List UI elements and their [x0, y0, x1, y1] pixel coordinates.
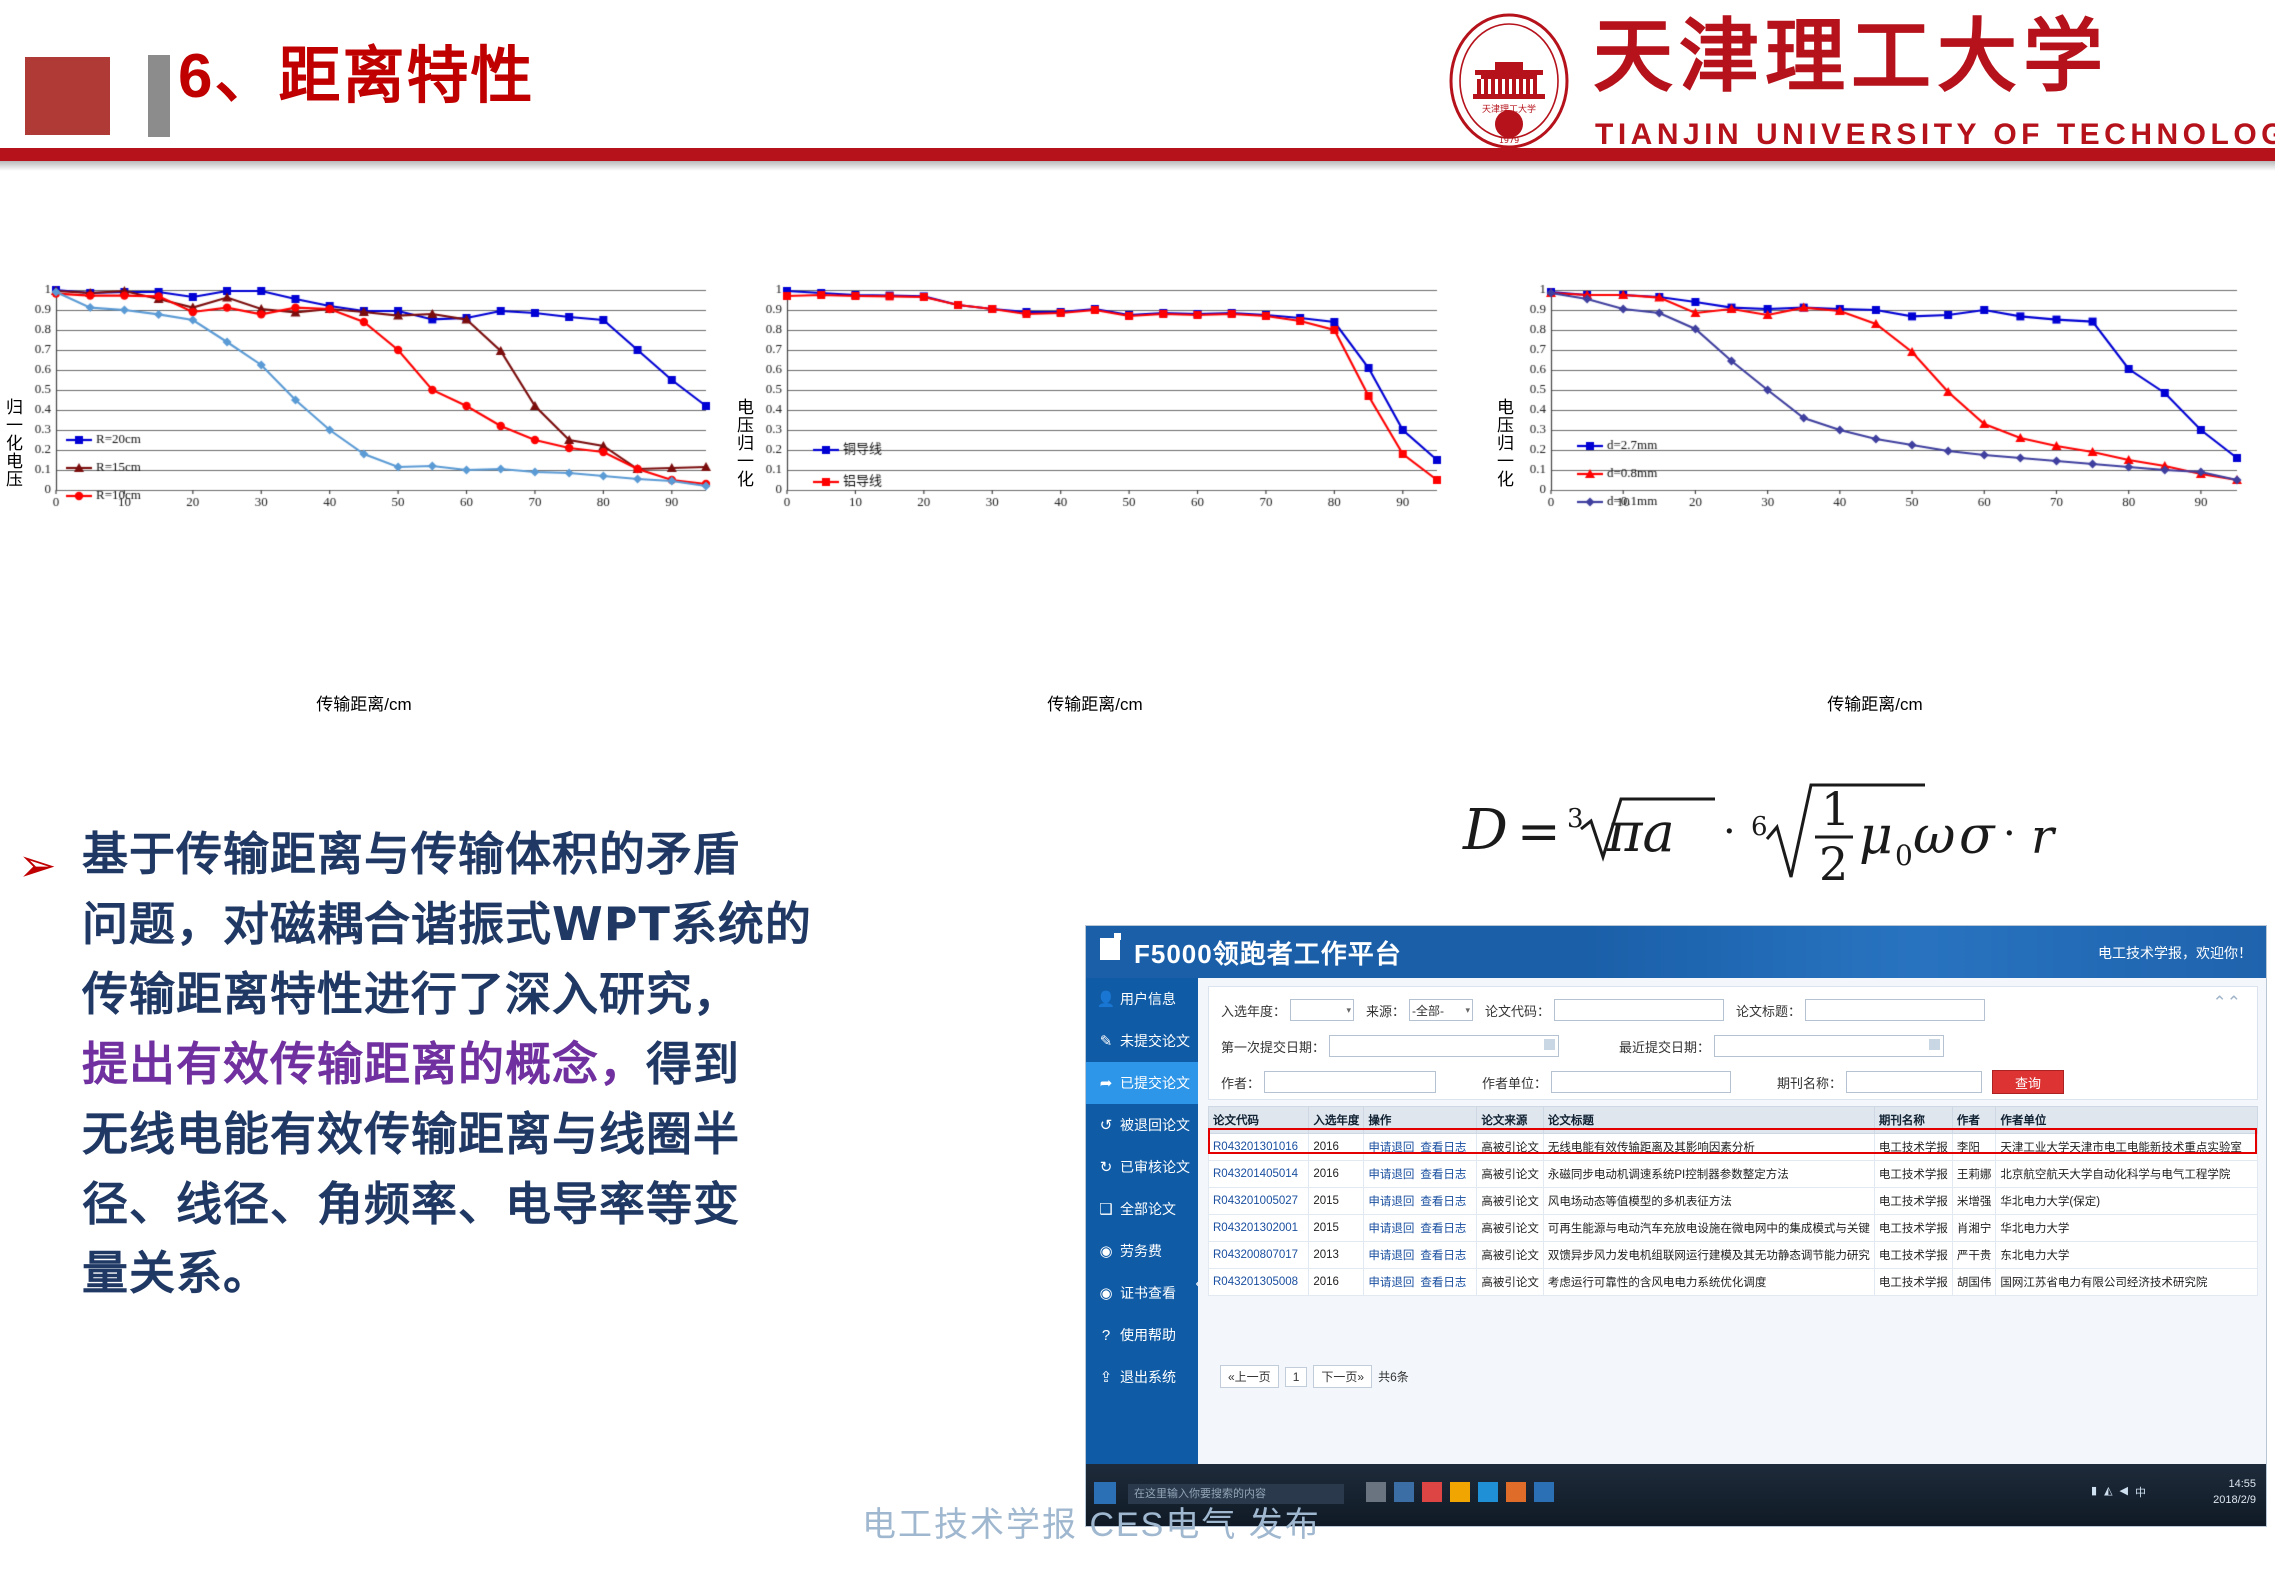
filter-journal-label: 期刊名称： — [1731, 1073, 1846, 1092]
cell-source: 高被引论文 — [1477, 1242, 1544, 1269]
svg-text:6: 6 — [1751, 812, 1768, 842]
column-header[interactable]: 论文来源 — [1477, 1107, 1544, 1134]
sidebar-item-3[interactable]: ↺被退回论文 — [1086, 1104, 1198, 1146]
action-link[interactable]: 查看日志 — [1420, 1196, 1466, 1208]
table-row[interactable]: R0432013050082016申请退回查看日志高被引论文考虑运行可靠性的含风… — [1209, 1269, 2258, 1296]
cell-journal: 电工技术学报 — [1874, 1269, 1952, 1296]
bullet-text-body: 基于传输距离与传输体积的矛盾 问题，对磁耦合谐振式WPT系统的 传输距离特性进行… — [82, 820, 1062, 1309]
cell-actions[interactable]: 申请退回查看日志 — [1364, 1188, 1477, 1215]
university-name-cn: 天津理工大学 — [1593, 12, 2109, 100]
bullet-line-4-rest: 得到 — [646, 1037, 740, 1091]
bullet-line-5: 无线电能有效传输距离与线圈半 — [82, 1100, 1062, 1170]
taskbar-tray-icons: ▮ ◭ ◀ 中 — [2091, 1484, 2146, 1500]
cell-source: 高被引论文 — [1477, 1215, 1544, 1242]
chart2-ylabel: 电压归一化 — [731, 398, 756, 488]
column-header[interactable]: 论文代码 — [1209, 1107, 1309, 1134]
prev-page-button[interactable]: «上一页 — [1220, 1365, 1279, 1388]
svg-text:天津理工大学: 天津理工大学 — [1482, 103, 1536, 115]
chart-canvas-2 — [745, 278, 1445, 518]
table-row[interactable]: R0432008070172013申请退回查看日志高被引论文双馈异步风力发电机组… — [1209, 1242, 2258, 1269]
filter-title-label: 论文标题： — [1724, 1001, 1805, 1020]
volume-icon[interactable]: ◀ — [2120, 1484, 2128, 1500]
f5000-main-panel: ⌃⌃ 入选年度： ▾ 来源： -全部-▾ 论文代码： 论文标题： 第一次提交日期… — [1198, 978, 2266, 1464]
action-link[interactable]: 申请退回 — [1368, 1223, 1414, 1235]
header-square-decoration — [25, 57, 110, 135]
sidebar-item-1[interactable]: ✎未提交论文 — [1086, 1020, 1198, 1062]
filter-author-input[interactable] — [1264, 1071, 1436, 1093]
unsubmitted-icon: ✎ — [1096, 1032, 1116, 1050]
column-header[interactable]: 入选年度 — [1309, 1107, 1364, 1134]
f5000-logo-icon — [1100, 938, 1120, 960]
column-header[interactable]: 论文标题 — [1543, 1107, 1874, 1134]
f5000-platform-screenshot: F5000领跑者工作平台 电工技术学报，欢迎你！ 👤用户信息✎未提交论文➦已提交… — [1085, 925, 2267, 1527]
filter-code-label: 论文代码： — [1473, 1001, 1554, 1020]
sidebar-item-label: 证书查看 — [1120, 1283, 1176, 1303]
cell-paper-code[interactable]: R043200807017 — [1209, 1242, 1309, 1269]
all-papers-icon: ❑ — [1096, 1200, 1116, 1218]
svg-text:πa: πa — [1606, 801, 1675, 864]
svg-text:·: · — [2003, 811, 2016, 857]
table-row[interactable]: R0432014050142016申请退回查看日志高被引论文永磁同步电动机调速系… — [1209, 1161, 2258, 1188]
clock-date: 2018/2/9 — [2213, 1492, 2256, 1508]
chart-distance-radius — [14, 278, 714, 518]
bullet-line-6: 径、线径、角频率、电导率等变 — [82, 1170, 1062, 1240]
filter-org-input[interactable] — [1551, 1071, 1731, 1093]
sidebar-item-9[interactable]: ⇪退出系统 — [1086, 1356, 1198, 1398]
chevron-down-icon: ▾ — [1346, 1005, 1351, 1016]
taskbar-clock[interactable]: 14:55 2018/2/9 — [2213, 1476, 2256, 1508]
filter-code-input[interactable] — [1554, 999, 1724, 1021]
calendar-icon[interactable] — [1544, 1039, 1555, 1050]
taskbar-app-icons — [1366, 1482, 1554, 1502]
office-icon[interactable] — [1534, 1482, 1554, 1502]
cell-title: 双馈异步风力发电机组联网运行建模及其无功静态调节能力研究 — [1543, 1242, 1874, 1269]
cell-journal: 电工技术学报 — [1874, 1242, 1952, 1269]
bullet-line-2: 问题，对磁耦合谐振式WPT系统的 — [82, 890, 1062, 960]
wifi-icon[interactable]: ◭ — [2104, 1484, 2112, 1500]
cell-paper-code[interactable]: R043201005027 — [1209, 1188, 1309, 1215]
svg-text:ω: ω — [1913, 806, 1955, 866]
f5000-app-title: F5000领跑者工作平台 — [1134, 934, 1402, 971]
filter-first-submit-input[interactable] — [1329, 1035, 1559, 1057]
ime-icon[interactable]: 中 — [2135, 1484, 2146, 1500]
cell-org: 国网江苏省电力有限公司经济技术研究院 — [1996, 1269, 2258, 1296]
sidebar-item-label: 已审核论文 — [1120, 1157, 1190, 1177]
cell-paper-code[interactable]: R043201301016 — [1209, 1134, 1309, 1161]
cell-author: 李阳 — [1952, 1134, 1996, 1161]
cell-actions[interactable]: 申请退回查看日志 — [1364, 1269, 1477, 1296]
svg-text:·: · — [1723, 809, 1736, 855]
cell-year: 2016 — [1309, 1161, 1364, 1188]
cell-org: 东北电力大学 — [1996, 1242, 2258, 1269]
pagination: «上一页 1 下一页» 共6条 — [1220, 1365, 1409, 1388]
filter-author-label: 作者： — [1209, 1073, 1264, 1092]
table-row[interactable]: R0432010050272015申请退回查看日志高被引论文风电场动态等值模型的… — [1209, 1188, 2258, 1215]
action-link[interactable]: 申请退回 — [1368, 1142, 1414, 1154]
action-link[interactable]: 查看日志 — [1420, 1142, 1466, 1154]
action-link[interactable]: 申请退回 — [1368, 1169, 1414, 1181]
filter-source-label: 来源： — [1354, 1001, 1409, 1020]
action-link[interactable]: 查看日志 — [1420, 1277, 1466, 1289]
papers-table: 论文代码入选年度操作论文来源论文标题期刊名称作者作者单位 R0432013010… — [1208, 1106, 2258, 1296]
cell-author: 胡国伟 — [1952, 1269, 1996, 1296]
cell-year: 2013 — [1309, 1242, 1364, 1269]
bullet-line-4: 提出有效传输距离的概念，得到 — [82, 1030, 1062, 1100]
cell-journal: 电工技术学报 — [1874, 1134, 1952, 1161]
filter-first-submit-label: 第一次提交日期： — [1209, 1037, 1329, 1056]
cell-org: 华北电力大学(保定) — [1996, 1188, 2258, 1215]
cell-actions[interactable]: 申请退回查看日志 — [1364, 1134, 1477, 1161]
sidebar-item-0[interactable]: 👤用户信息 — [1086, 978, 1198, 1020]
page-title: 6、距离特性 — [178, 46, 534, 108]
help-icon: ? — [1096, 1327, 1116, 1344]
sidebar-item-label: 被退回论文 — [1120, 1115, 1190, 1135]
filter-journal-input[interactable] — [1846, 1071, 1982, 1093]
filter-org-label: 作者单位： — [1436, 1073, 1551, 1092]
filter-year-select[interactable]: ▾ — [1290, 999, 1354, 1021]
svg-text:1979: 1979 — [1499, 136, 1519, 145]
table-row[interactable]: R0432013010162016申请退回查看日志高被引论文无线电能有效传输距离… — [1209, 1134, 2258, 1161]
sidebar-item-label: 退出系统 — [1120, 1367, 1176, 1387]
cell-author: 米增强 — [1952, 1188, 1996, 1215]
svg-text:2: 2 — [1819, 837, 1848, 885]
cell-title: 风电场动态等值模型的多机表征方法 — [1543, 1188, 1874, 1215]
returned-icon: ↺ — [1096, 1116, 1116, 1134]
filter-year-label: 入选年度： — [1209, 1001, 1290, 1020]
filter-last-submit-label: 最近提交日期： — [1559, 1037, 1714, 1056]
cell-title: 可再生能源与电动汽车充放电设施在微电网中的集成模式与关键 — [1543, 1215, 1874, 1242]
bullet-line-7: 量关系。 — [82, 1239, 1062, 1309]
logout-icon: ⇪ — [1096, 1368, 1116, 1386]
sidebar-item-label: 使用帮助 — [1120, 1325, 1176, 1345]
media-icon[interactable] — [1422, 1482, 1442, 1502]
action-link[interactable]: 申请退回 — [1368, 1277, 1414, 1289]
chart2-xlabel: 传输距离/cm — [745, 690, 1445, 715]
query-button[interactable]: 查询 — [1992, 1070, 2064, 1094]
university-name-en: TIANJIN UNIVERSITY OF TECHNOLOGY — [1595, 118, 2275, 152]
browser-icon[interactable] — [1478, 1482, 1498, 1502]
sidebar-item-6[interactable]: ◉劳务费 — [1086, 1230, 1198, 1272]
column-header[interactable]: 作者单位 — [1996, 1107, 2258, 1134]
reviewed-icon: ↻ — [1096, 1158, 1116, 1176]
sidebar-item-4[interactable]: ↻已审核论文 — [1086, 1146, 1198, 1188]
papers-table-body: R0432013010162016申请退回查看日志高被引论文无线电能有效传输距离… — [1209, 1134, 2258, 1296]
cell-source: 高被引论文 — [1477, 1269, 1544, 1296]
bullet-line-4-highlight: 提出有效传输距离的概念， — [82, 1037, 646, 1091]
cell-author: 王莉娜 — [1952, 1161, 1996, 1188]
f5000-welcome-text: 电工技术学报，欢迎你！ — [2098, 943, 2252, 963]
calendar-icon[interactable] — [1929, 1039, 1940, 1050]
university-seal-icon: 天津理工大学 1979 — [1443, 12, 1575, 150]
bullet-arrow-icon: ➢ — [18, 842, 57, 888]
total-count-label: 共6条 — [1378, 1368, 1409, 1385]
svg-text:r: r — [2031, 809, 2057, 865]
cell-year: 2016 — [1309, 1134, 1364, 1161]
header-divider-shadow — [0, 161, 2275, 171]
sidebar-item-label: 已提交论文 — [1120, 1073, 1190, 1093]
cell-org: 北京航空航天大学自动化科学与电气工程学院 — [1996, 1161, 2258, 1188]
f5000-sidebar: 👤用户信息✎未提交论文➦已提交论文↺被退回论文↻已审核论文❑全部论文◉劳务费◉证… — [1086, 978, 1198, 1464]
cell-actions[interactable]: 申请退回查看日志 — [1364, 1242, 1477, 1269]
cell-author: 严干贵 — [1952, 1242, 1996, 1269]
cell-source: 高被引论文 — [1477, 1188, 1544, 1215]
sidebar-item-label: 用户信息 — [1120, 989, 1176, 1009]
f5000-titlebar: F5000领跑者工作平台 电工技术学报，欢迎你！ — [1086, 926, 2266, 978]
chart3-ylabel: 电压归一化 — [1491, 398, 1516, 488]
sidebar-item-7[interactable]: ◉证书查看 — [1086, 1272, 1198, 1314]
f5000-filter-form: ⌃⌃ 入选年度： ▾ 来源： -全部-▾ 论文代码： 论文标题： 第一次提交日期… — [1208, 986, 2258, 1100]
sidebar-item-label: 劳务费 — [1120, 1241, 1162, 1261]
svg-text:D: D — [1462, 798, 1508, 863]
table-row[interactable]: R0432013020012015申请退回查看日志高被引论文可再生能源与电动汽车… — [1209, 1215, 2258, 1242]
chart-canvas-1 — [14, 278, 714, 518]
header-bar-decoration — [148, 55, 170, 137]
cell-paper-code[interactable]: R043201302001 — [1209, 1215, 1309, 1242]
explorer-icon[interactable] — [1394, 1482, 1414, 1502]
certificate-icon: ◉ — [1096, 1284, 1116, 1302]
action-link[interactable]: 查看日志 — [1420, 1223, 1466, 1235]
bullet-line-3: 传输距离特性进行了深入研究， — [82, 960, 1062, 1030]
filter-title-input[interactable] — [1805, 999, 1985, 1021]
folder-icon[interactable] — [1450, 1482, 1470, 1502]
action-link[interactable]: 查看日志 — [1420, 1250, 1466, 1262]
battery-icon[interactable]: ▮ — [2091, 1484, 2097, 1500]
cell-journal: 电工技术学报 — [1874, 1188, 1952, 1215]
clock-time: 14:55 — [2213, 1476, 2256, 1492]
column-header[interactable]: 期刊名称 — [1874, 1107, 1952, 1134]
papers-table-header-row: 论文代码入选年度操作论文来源论文标题期刊名称作者作者单位 — [1209, 1107, 2258, 1134]
cell-paper-code[interactable]: R043201405014 — [1209, 1161, 1309, 1188]
chart-conductor-material — [745, 278, 1445, 518]
submitted-icon: ➦ — [1096, 1074, 1116, 1092]
chart3-xlabel: 传输距离/cm — [1505, 690, 2245, 715]
cell-journal: 电工技术学报 — [1874, 1215, 1952, 1242]
chevron-down-icon: ▾ — [1466, 1005, 1471, 1016]
chart1-xlabel: 传输距离/cm — [14, 690, 714, 715]
cell-year: 2015 — [1309, 1188, 1364, 1215]
column-header[interactable]: 操作 — [1364, 1107, 1477, 1134]
svg-text:1: 1 — [1821, 782, 1850, 836]
cell-year: 2016 — [1309, 1269, 1364, 1296]
sidebar-item-5[interactable]: ❑全部论文 — [1086, 1188, 1198, 1230]
chart-wire-diameter — [1505, 278, 2245, 518]
svg-text:0: 0 — [1895, 839, 1913, 872]
university-logo: 天津理工大学 1979 天津理工大学 TIANJIN UNIVERSITY OF… — [1443, 6, 2253, 156]
bullet-line-1: 基于传输距离与传输体积的矛盾 — [82, 820, 1062, 890]
slide-header: 6、距离特性 天津理工大学 1979 — [0, 0, 2275, 230]
cell-journal: 电工技术学报 — [1874, 1161, 1952, 1188]
action-link[interactable]: 申请退回 — [1368, 1196, 1414, 1208]
cell-author: 肖湘宁 — [1952, 1215, 1996, 1242]
cell-actions[interactable]: 申请退回查看日志 — [1364, 1161, 1477, 1188]
cell-org: 天津工业大学天津市电工电能新技术重点实验室 — [1996, 1134, 2258, 1161]
action-link[interactable]: 申请退回 — [1368, 1250, 1414, 1262]
cell-source: 高被引论文 — [1477, 1134, 1544, 1161]
cell-org: 华北电力大学 — [1996, 1215, 2258, 1242]
sidebar-item-label: 全部论文 — [1120, 1199, 1176, 1219]
cell-actions[interactable]: 申请退回查看日志 — [1364, 1215, 1477, 1242]
cell-title: 考虑运行可靠性的含风电电力系统优化调度 — [1543, 1269, 1874, 1296]
user-icon: 👤 — [1096, 990, 1116, 1008]
column-header[interactable]: 作者 — [1952, 1107, 1996, 1134]
cell-paper-code[interactable]: R043201305008 — [1209, 1269, 1309, 1296]
filter-source-select[interactable]: -全部-▾ — [1409, 999, 1473, 1021]
svg-text:3: 3 — [1567, 804, 1584, 834]
filter-last-submit-input[interactable] — [1714, 1035, 1944, 1057]
chart-canvas-3 — [1505, 278, 2245, 518]
svg-text:μ: μ — [1859, 806, 1893, 866]
taskview-icon[interactable] — [1366, 1482, 1386, 1502]
svg-text:σ: σ — [1959, 806, 1996, 866]
cell-title: 无线电能有效传输距离及其影响因素分析 — [1543, 1134, 1874, 1161]
cell-source: 高被引论文 — [1477, 1161, 1544, 1188]
chart1-ylabel: 归一化电压 — [0, 398, 25, 488]
filter-source-value: -全部- — [1412, 1002, 1444, 1019]
formula-effective-distance: D = 3 πa · 6 1 2 μ 0 ω σ · r — [1455, 775, 2215, 885]
cell-title: 永磁同步电动机调速系统PI控制器参数整定方法 — [1543, 1161, 1874, 1188]
sidebar-item-2[interactable]: ➦已提交论文 — [1086, 1062, 1198, 1104]
watermark: 电工技术学报 CES电气 发布 — [862, 1497, 1321, 1546]
svg-text:=: = — [1517, 802, 1561, 862]
pdf-icon[interactable] — [1506, 1482, 1526, 1502]
action-link[interactable]: 查看日志 — [1420, 1169, 1466, 1181]
fee-icon: ◉ — [1096, 1242, 1116, 1260]
sidebar-item-label: 未提交论文 — [1120, 1031, 1190, 1051]
page-number[interactable]: 1 — [1285, 1367, 1308, 1387]
cell-year: 2015 — [1309, 1215, 1364, 1242]
sidebar-item-8[interactable]: ?使用帮助 — [1086, 1314, 1198, 1356]
next-page-button[interactable]: 下一页» — [1313, 1365, 1372, 1388]
